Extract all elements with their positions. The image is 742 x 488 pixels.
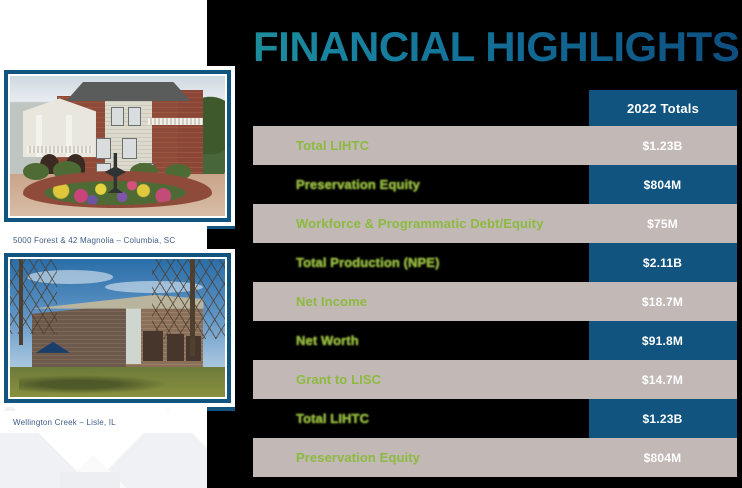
table-row: Workforce & Programmatic Debt/Equity$75M bbox=[253, 204, 737, 243]
row-label: Net Income bbox=[253, 294, 588, 309]
row-label: Total LIHTC bbox=[253, 411, 588, 426]
rectangle-watermark bbox=[60, 472, 120, 488]
row-value: $804M bbox=[588, 178, 737, 192]
photo-border bbox=[4, 70, 231, 222]
table-row: Total Production (NPE)$2.11B bbox=[253, 243, 737, 282]
row-label: Total LIHTC bbox=[253, 138, 588, 153]
row-value: $1.23B bbox=[588, 139, 737, 153]
table-row: Grant to LISC$14.7M bbox=[253, 360, 737, 399]
roof-shape bbox=[66, 82, 191, 102]
row-label: Net Worth bbox=[253, 333, 588, 348]
row-label: Workforce & Programmatic Debt/Equity bbox=[253, 216, 588, 231]
table-row: Total LIHTC$1.23B bbox=[253, 399, 737, 438]
row-label: Preservation Equity bbox=[253, 450, 588, 465]
photo-card-forest-magnolia bbox=[0, 66, 235, 226]
photo-caption-2: Wellington Creek – Lisle, IL bbox=[0, 411, 204, 433]
row-label: Preservation Equity bbox=[253, 177, 588, 192]
chevron-watermark-3 bbox=[41, 455, 146, 488]
totals-column-header: 2022 Totals bbox=[589, 90, 737, 126]
table-row: Total LIHTC$1.23B bbox=[253, 126, 737, 165]
balcony-railing-2 bbox=[148, 118, 204, 125]
row-value: $14.7M bbox=[588, 373, 737, 387]
financial-highlights-table: Total LIHTC$1.23BPreservation Equity$804… bbox=[253, 126, 737, 477]
photo-card-wellington-creek bbox=[0, 249, 235, 407]
balcony-railing-1 bbox=[27, 146, 92, 153]
bare-branches-right bbox=[152, 259, 225, 339]
row-value: $75M bbox=[588, 217, 737, 231]
table-row: Preservation Equity$804M bbox=[253, 438, 737, 477]
photo-caption-1: 5000 Forest & 42 Magnolia – Columbia, SC bbox=[0, 229, 204, 251]
stair-window-2 bbox=[130, 334, 139, 345]
window-2 bbox=[128, 107, 141, 126]
photo-border bbox=[4, 253, 231, 403]
bare-branches-left bbox=[10, 259, 57, 334]
table-row: Net Income$18.7M bbox=[253, 282, 737, 321]
row-value: $18.7M bbox=[588, 295, 737, 309]
stair-window-1 bbox=[130, 311, 139, 322]
window-3 bbox=[96, 138, 111, 160]
window-4 bbox=[122, 138, 137, 160]
row-label: Total Production (NPE) bbox=[253, 255, 588, 270]
brick-apartment-building-with-fountain-photo bbox=[10, 76, 225, 216]
row-value: $2.11B bbox=[588, 256, 737, 270]
shrub-1 bbox=[23, 163, 49, 180]
brick-apartment-building-winter-photo bbox=[10, 259, 225, 397]
row-value: $1.23B bbox=[588, 412, 737, 426]
row-label: Grant to LISC bbox=[253, 372, 588, 387]
table-row: Net Worth$91.8M bbox=[253, 321, 737, 360]
row-value: $804M bbox=[588, 451, 737, 465]
row-value: $91.8M bbox=[588, 334, 737, 348]
tree-shadow bbox=[19, 375, 170, 394]
page-title: FINANCIAL HIGHLIGHTS bbox=[253, 26, 739, 68]
window-1 bbox=[111, 107, 124, 126]
table-row: Preservation Equity$804M bbox=[253, 165, 737, 204]
